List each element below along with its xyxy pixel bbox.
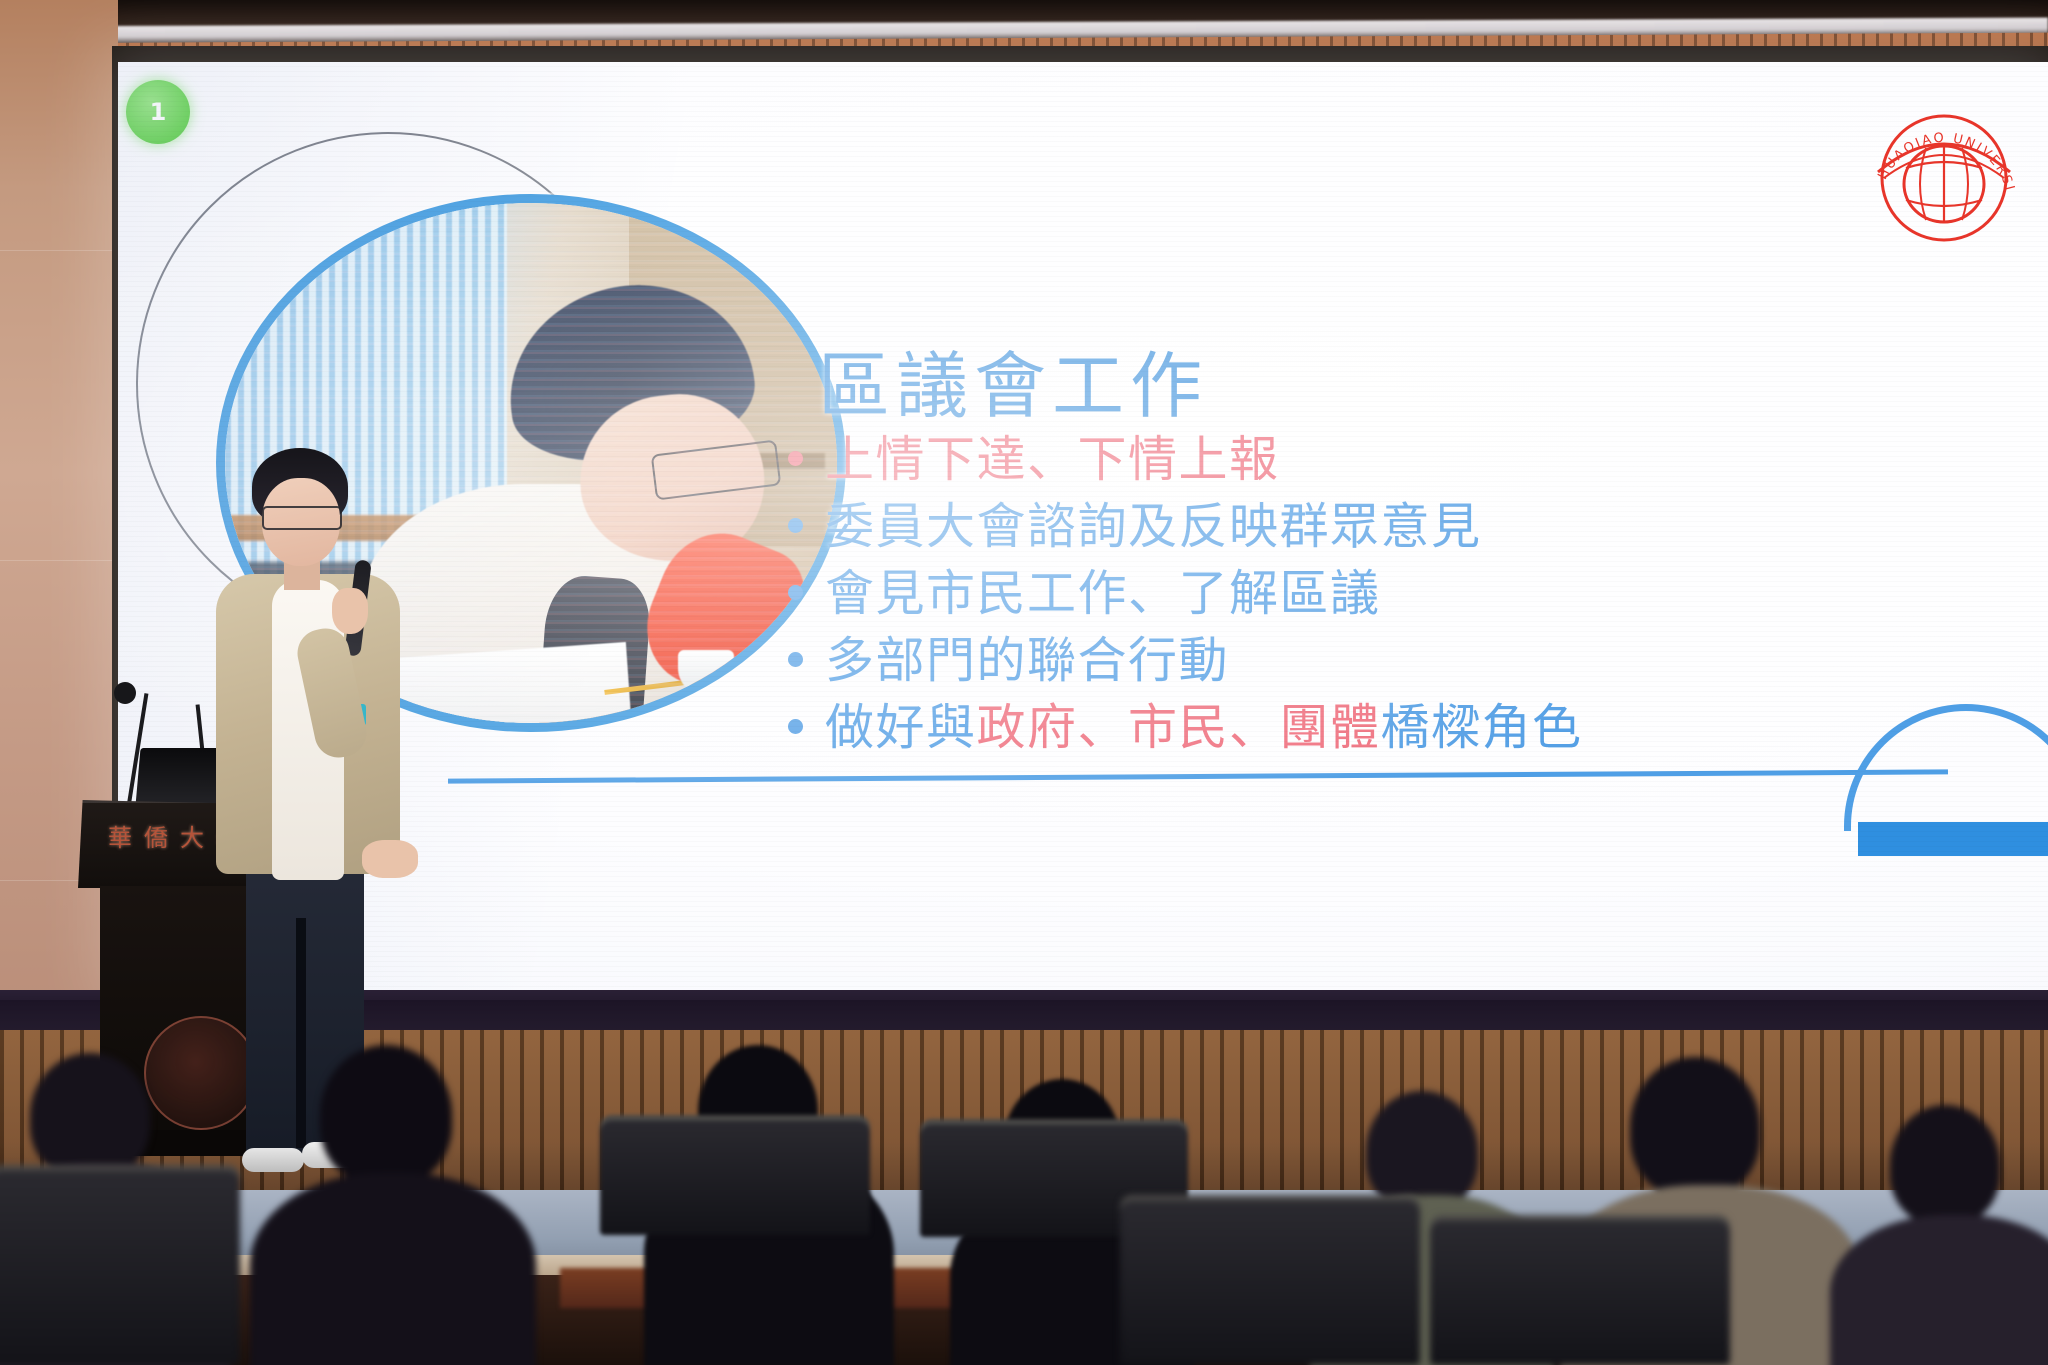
bullet-item-5: 做好與政府、市民、團體橋樑角色	[788, 690, 2048, 757]
slide-number-value: 1	[150, 98, 167, 126]
bullet-dot-icon	[788, 585, 803, 600]
bullet-item-4: 多部門的聯合行動	[788, 623, 2048, 690]
bullet-segment: 橋樑角色	[1381, 699, 1583, 756]
bullet-text: 會見市民工作、了解區議	[825, 554, 1381, 625]
decorative-blue-bar	[1858, 822, 2048, 856]
slide-number-badge: 1	[126, 80, 190, 144]
lectern-char: 大	[180, 818, 204, 853]
bullet-text: 上情下達、下情上報	[825, 420, 1280, 491]
audience-chair	[0, 1165, 240, 1365]
microphone-icon	[114, 682, 136, 704]
bullet-dot-icon	[788, 451, 803, 466]
slide-title: 區議會工作	[818, 327, 1208, 432]
lectern-char: 華	[108, 818, 132, 853]
bullet-segment: 政府、市民、團體	[977, 699, 1381, 756]
audience-chair	[1430, 1215, 1730, 1365]
bullet-item-1: 上情下達、下情上報	[788, 422, 2048, 489]
huaqiao-university-logo-icon: HUAQIAO UNIVERSITY	[1864, 98, 2024, 258]
lectern-char: 僑	[144, 818, 168, 853]
audience-chair	[1120, 1195, 1420, 1365]
bullet-segment: 做好與	[825, 699, 977, 756]
audience-member	[1830, 1065, 2048, 1365]
bullet-text-mixed: 做好與政府、市民、團體橋樑角色	[825, 688, 1583, 759]
svg-text:HUAQIAO UNIVERSITY: HUAQIAO UNIVERSITY	[1864, 98, 2017, 194]
audience-chair	[600, 1115, 870, 1235]
auditorium-scene: 1	[0, 0, 2048, 1365]
audience-member	[250, 1035, 530, 1365]
bullet-item-3: 會見市民工作、了解區議	[788, 556, 2048, 623]
bullet-list: 上情下達、下情上報 委員大會諮詢及反映群眾意見 會見市民工作、了解區議 多部門的…	[788, 422, 2048, 757]
bullet-dot-icon	[788, 518, 803, 533]
bullet-text: 多部門的聯合行動	[825, 621, 1229, 692]
glasses-icon	[262, 506, 342, 530]
bullet-dot-icon	[788, 719, 803, 734]
bullet-text: 委員大會諮詢及反映群眾意見	[825, 487, 1482, 558]
presenter	[210, 448, 410, 948]
bullet-dot-icon	[788, 652, 803, 667]
bullet-item-2: 委員大會諮詢及反映群眾意見	[788, 489, 2048, 556]
decorative-horizontal-line	[448, 769, 1948, 783]
